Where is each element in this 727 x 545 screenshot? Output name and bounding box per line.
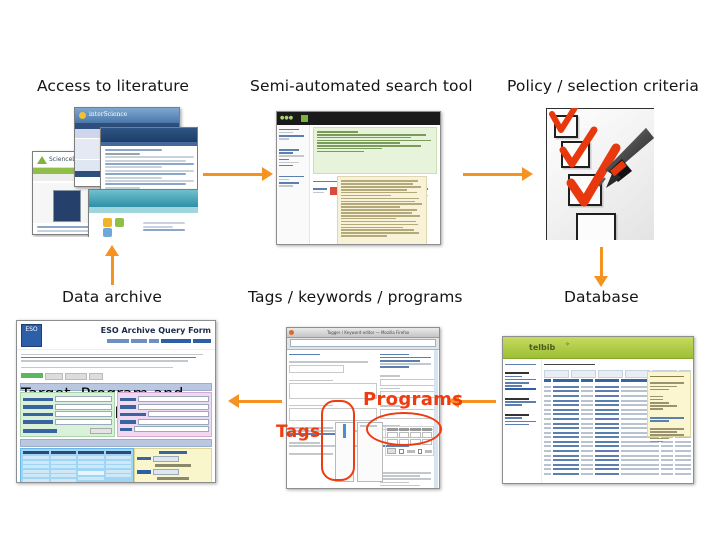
- window-teal-portal[interactable]: [88, 189, 198, 237]
- database-results[interactable]: [542, 359, 693, 483]
- eso-section-header-observing: [20, 439, 212, 447]
- eso-data-products-title: [159, 451, 188, 454]
- table-row[interactable]: [544, 464, 691, 466]
- table-row[interactable]: [544, 455, 691, 457]
- annotation-ellipse-programs: [366, 412, 442, 446]
- search-tool-logo-mark: [301, 115, 308, 122]
- stage-label-tags-keywords-programs: Tags / keywords / programs: [248, 288, 463, 306]
- keyword-select[interactable]: [289, 365, 344, 373]
- arrow-search-to-policy: [463, 165, 533, 183]
- checkmarks-and-pen: [546, 108, 654, 240]
- eso-navlinks[interactable]: [107, 339, 211, 343]
- stage-label-policy-selection-criteria: Policy / selection criteria: [507, 77, 699, 95]
- eso-action-buttons[interactable]: [17, 372, 215, 381]
- eso-logo: ESO: [21, 324, 42, 347]
- table-row[interactable]: [544, 459, 691, 461]
- screenshot-data-archive[interactable]: ESO ESO Archive Query Form Target, Progr…: [16, 320, 216, 483]
- search-tool-logo: ●●●: [280, 115, 293, 121]
- window-title-text: Tagger / Keyword editor — Mozilla Firefo…: [327, 330, 409, 335]
- stage-label-semi-automated-search-tool: Semi-automated search tool: [250, 77, 473, 95]
- screenshot-policy-selection-criteria[interactable]: [546, 108, 654, 240]
- arrow-archive-to-lit: [103, 245, 121, 285]
- interscience-brand: interScience: [89, 111, 127, 118]
- teal-portal-header: [89, 190, 198, 207]
- annotation-tags: Tags: [276, 422, 320, 442]
- eso-data-products-panel[interactable]: [134, 448, 212, 483]
- journal-header: [101, 128, 197, 142]
- screenshot-access-to-literature[interactable]: ScienceDirect interScience: [30, 105, 198, 237]
- table-row[interactable]: [544, 450, 691, 452]
- search-tool-sidebar[interactable]: [277, 125, 310, 244]
- arrow-tags-to-archive: [228, 392, 282, 410]
- folder-icon: [103, 218, 112, 227]
- database-logo: telbib: [529, 343, 555, 352]
- screenshot-database[interactable]: telbib ✧: [502, 336, 694, 484]
- eso-instrument-panel[interactable]: [20, 448, 134, 483]
- address-bar-row[interactable]: [287, 338, 439, 350]
- database-sidebar[interactable]: [503, 359, 542, 483]
- arrow-policy-to-database: [592, 247, 610, 287]
- eso-target-panel[interactable]: [20, 392, 115, 437]
- search-tool-header: ●●●: [277, 112, 440, 125]
- eso-header: ESO ESO Archive Query Form: [17, 321, 215, 350]
- annotation-programs: Programs: [363, 389, 463, 410]
- eso-form-title: ESO Archive Query Form: [101, 326, 211, 335]
- search-tool-abstract-panel: [337, 176, 427, 245]
- journal-cover-thumbnail: [53, 190, 81, 222]
- eso-intro-text: [17, 350, 215, 372]
- table-row[interactable]: [544, 441, 691, 443]
- eso-observing-row[interactable]: [20, 448, 212, 483]
- doc-icon: [103, 228, 112, 237]
- stage-label-data-archive: Data archive: [62, 288, 162, 306]
- arrow-lit-to-search: [203, 165, 273, 183]
- screenshot-semi-automated-search-tool[interactable]: ●●●: [276, 111, 441, 245]
- chart-icon: [115, 218, 124, 227]
- database-header: telbib ✧: [503, 337, 693, 359]
- globe-icon: [79, 112, 86, 119]
- eso-program-panel[interactable]: [117, 392, 212, 437]
- search-tool-result-summary: [313, 127, 437, 174]
- stage-label-database: Database: [564, 288, 639, 306]
- leaf-icon: [37, 156, 47, 164]
- address-input[interactable]: [290, 339, 436, 347]
- window-close-icon[interactable]: [289, 330, 294, 335]
- teal-portal-content: [89, 213, 198, 237]
- interscience-header: interScience: [75, 108, 179, 123]
- window-titlebar[interactable]: Tagger / Keyword editor — Mozilla Firefo…: [287, 328, 439, 338]
- eso-section-header-target: Target, Program and Scheduling Informati…: [20, 383, 212, 391]
- stage-label-access-to-literature: Access to literature: [37, 77, 189, 95]
- annotation-ellipse-tags: [321, 400, 355, 481]
- database-info-note: [647, 371, 691, 437]
- table-row[interactable]: [544, 468, 691, 470]
- table-row[interactable]: [544, 473, 691, 475]
- table-row[interactable]: [544, 445, 691, 447]
